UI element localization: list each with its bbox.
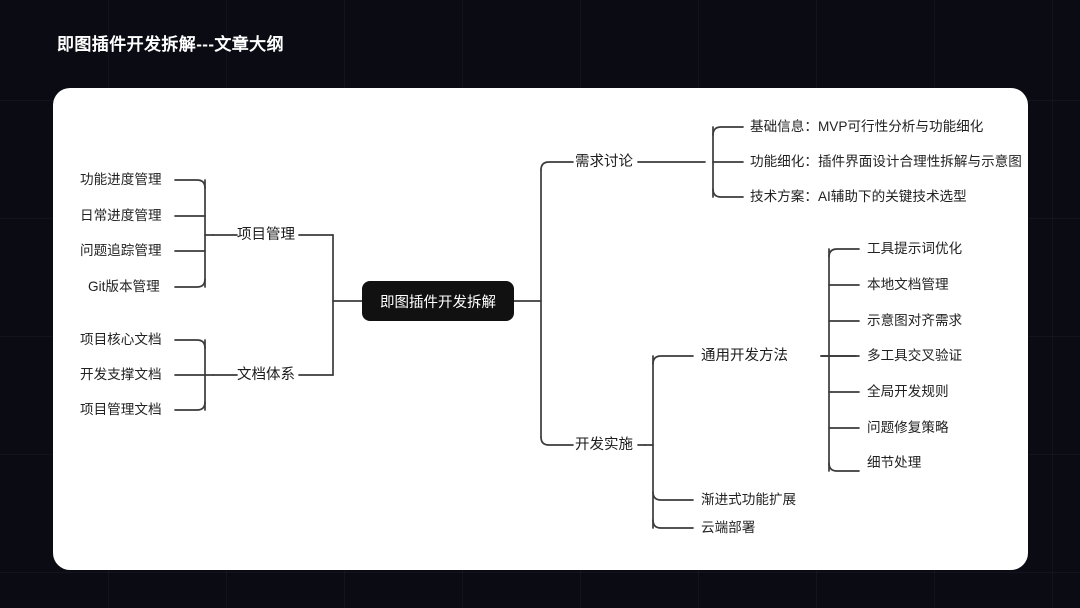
leaf-dev-support-docs[interactable]: 开发支撑文档 — [80, 367, 162, 383]
leaf-cloud-deploy[interactable]: 云端部署 — [701, 520, 755, 536]
leaf-core-docs[interactable]: 项目核心文档 — [80, 332, 162, 348]
leaf-diagram-alignment[interactable]: 示意图对齐需求 — [867, 313, 962, 329]
branch-label-doc-system[interactable]: 文档体系 — [237, 367, 295, 383]
leaf-issue-fix-strategy[interactable]: 问题修复策略 — [867, 420, 949, 436]
page-title: 即图插件开发拆解---文章大纲 — [57, 30, 284, 55]
leaf-prompt-optimization[interactable]: 工具提示词优化 — [867, 241, 962, 257]
leaf-basic-info[interactable]: 基础信息：MVP可行性分析与功能细化 — [750, 119, 983, 135]
leaf-issue-tracking[interactable]: 问题追踪管理 — [80, 243, 162, 259]
leaf-git-version[interactable]: Git版本管理 — [88, 279, 160, 295]
mindmap-card: 即图插件开发拆解 项目管理 功能进度管理 日常进度管理 问题追踪管理 Git版本… — [53, 88, 1028, 570]
leaf-project-mgmt-docs[interactable]: 项目管理文档 — [80, 402, 162, 418]
leaf-progressive-expansion[interactable]: 渐进式功能扩展 — [701, 492, 796, 508]
leaf-local-doc-management[interactable]: 本地文档管理 — [867, 277, 949, 293]
leaf-feature-detail[interactable]: 功能细化：插件界面设计合理性拆解与示意图 — [750, 154, 1022, 170]
leaf-daily-progress[interactable]: 日常进度管理 — [80, 208, 162, 224]
leaf-global-dev-rules[interactable]: 全局开发规则 — [867, 384, 949, 400]
branch-label-requirements[interactable]: 需求讨论 — [575, 154, 633, 170]
branch-label-project-management[interactable]: 项目管理 — [237, 227, 295, 243]
branch-label-general-dev-method[interactable]: 通用开发方法 — [701, 348, 788, 364]
center-node-label: 即图插件开发拆解 — [362, 281, 514, 321]
leaf-feature-progress[interactable]: 功能进度管理 — [80, 172, 162, 188]
leaf-detail-handling[interactable]: 细节处理 — [867, 455, 921, 471]
center-node[interactable]: 即图插件开发拆解 — [362, 281, 514, 321]
branch-label-development[interactable]: 开发实施 — [575, 437, 633, 453]
leaf-tech-plan[interactable]: 技术方案：AI辅助下的关键技术选型 — [750, 189, 967, 205]
leaf-multi-tool-validation[interactable]: 多工具交叉验证 — [867, 348, 962, 364]
